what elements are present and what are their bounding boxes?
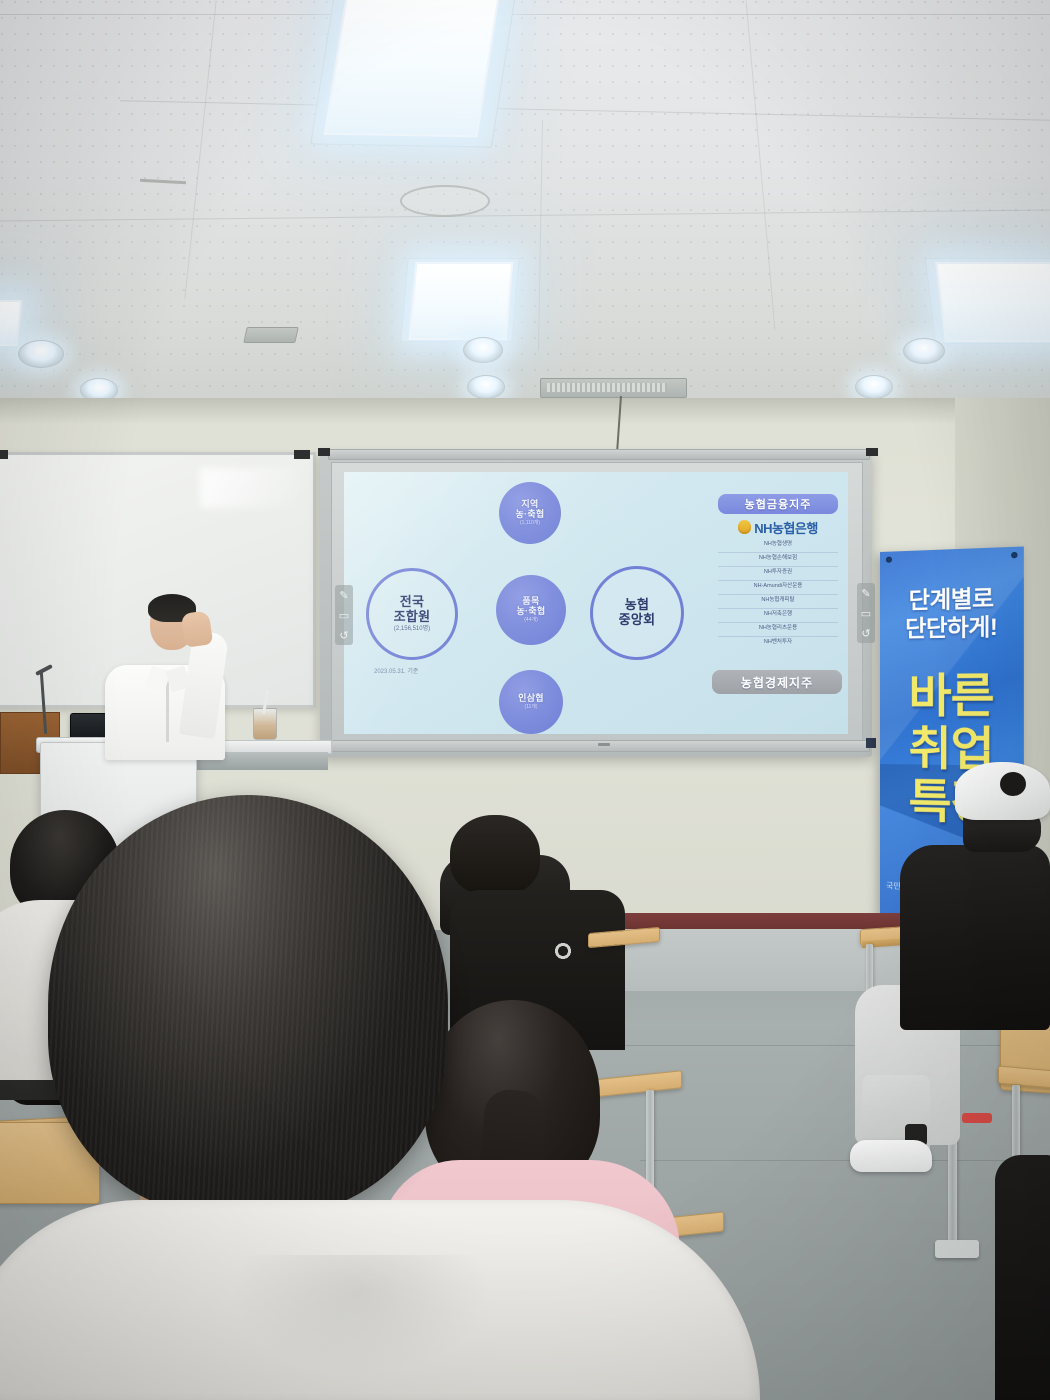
ceiling-tile-texture [0, 0, 1050, 405]
node-line2: 농·축협 [516, 606, 545, 616]
ceiling-panel-light [409, 262, 514, 340]
list-item: NH저축은행 [718, 608, 838, 623]
banner-footer-text: 국민 [886, 880, 901, 892]
node-line1: 전국 [400, 595, 425, 610]
whiteboard-glare [200, 468, 300, 508]
lecture-hall-photo: 지역 농·축협 (1,110개) 전국 조합원 (2,156,510명) 품목 … [0, 0, 1050, 1400]
board-corner-bracket [866, 448, 878, 456]
node-line1: 지역 [521, 499, 538, 509]
slide-node-commodity-coop: 품목 농·축협 (44개) [496, 575, 566, 645]
node-line2: 조합원 [394, 610, 431, 625]
node-sub: (44개) [524, 618, 538, 624]
presenter-shirt-placket [166, 676, 169, 742]
whiteboard-corner-bracket [0, 450, 8, 459]
smartboard-pen-tray [330, 740, 870, 752]
cap-back-opening [1000, 772, 1026, 796]
list-item: NH벤처투자 [718, 636, 838, 650]
nh-logo-mark-icon [738, 520, 751, 534]
ceiling-seam [0, 14, 1050, 15]
undo-icon[interactable]: ↺ [861, 627, 870, 640]
undo-icon[interactable]: ↺ [339, 629, 348, 642]
nh-bank-logo-text: NH농협은행 [754, 518, 818, 537]
node-line1: 농협 [625, 598, 650, 613]
slide-node-ginseng-coop: 인삼협 (11개) [499, 670, 563, 734]
node-line1: 인삼협 [518, 693, 544, 703]
list-item: NH농협리츠운용 [718, 622, 838, 637]
node-sub: (2,156,510명) [394, 626, 430, 633]
node-sub: (11개) [524, 705, 537, 711]
red-object-under-desk [962, 1113, 992, 1123]
list-item: NH투자증권 [718, 566, 838, 581]
node-line2: 농·축협 [515, 509, 544, 519]
ceiling-downlight [18, 340, 64, 368]
nh-subsidiary-list: NH농협생명 NH농협손해보험 NH투자증권 NH-Amundi자산운용 NH농… [718, 538, 838, 658]
banner-line-2: 단단하게! [880, 607, 1024, 644]
foreground-hair-texture [48, 795, 448, 1215]
audience-head-hooded [450, 815, 540, 895]
ceiling-downlight [467, 375, 505, 399]
projector-screen[interactable]: 지역 농·축협 (1,110개) 전국 조합원 (2,156,510명) 품목 … [344, 472, 848, 734]
ceiling-downlight [855, 375, 893, 399]
desk-foot [935, 1240, 979, 1258]
hoodie-logo [552, 940, 574, 962]
floor-seam [640, 1160, 1050, 1161]
ceiling-vent [243, 327, 298, 343]
board-corner-bracket [866, 738, 876, 748]
list-item: NH농협생명 [718, 538, 838, 553]
ceiling-air-vent [540, 378, 687, 398]
smartboard-controls-left[interactable]: ✎ ▭ ↺ [335, 585, 353, 645]
node-sub: (1,110개) [520, 521, 540, 527]
slide-node-nh-federation: 농협 중앙회 [590, 566, 684, 660]
tshirt-fold-shadow [230, 1255, 490, 1375]
list-item: NH농협캐피탈 [718, 594, 838, 609]
whiteboard-corner-bracket [294, 450, 310, 459]
pen-icon[interactable]: ✎ [339, 589, 348, 602]
slide-header-nh-economic-holdings: 농협경제지주 [712, 670, 842, 694]
wall-top-shadow [0, 398, 1050, 424]
ceiling-speaker [400, 185, 490, 217]
far-seated-person [995, 1155, 1050, 1400]
ceiling-downlight [463, 337, 503, 363]
floor-seam [600, 1045, 1050, 1046]
seated-person-sneaker [850, 1140, 932, 1172]
node-line1: 품목 [522, 596, 539, 606]
eraser-icon[interactable]: ▭ [339, 609, 349, 622]
pen-icon[interactable]: ✎ [861, 587, 870, 600]
ceiling-panel-light [324, 0, 500, 137]
board-corner-bracket [318, 448, 330, 456]
tray-indicator [598, 743, 610, 746]
vent-louvers [547, 383, 667, 392]
smartboard-controls-right[interactable]: ✎ ▭ ↺ [857, 583, 875, 643]
node-line2: 중앙회 [619, 613, 656, 628]
ceiling-downlight [903, 338, 945, 364]
slide-date-note: 2023.05.31. 기준 [374, 666, 418, 675]
list-item: NH-Amundi자산운용 [718, 580, 838, 595]
slide-node-regional-coop: 지역 농·축협 (1,110개) [499, 482, 561, 544]
smartboard-top-rail [328, 449, 870, 460]
seated-person-jacket [900, 845, 1050, 1030]
slide-node-member-farmers: 전국 조합원 (2,156,510명) [366, 568, 458, 660]
list-item: NH농협손해보험 [718, 552, 838, 567]
eraser-icon[interactable]: ▭ [861, 607, 871, 620]
slide-header-nh-financial-group: 농협금융지주 [718, 494, 838, 514]
ceiling-panel-light [935, 262, 1050, 342]
nh-bank-logo: NH농협은행 [718, 519, 838, 535]
